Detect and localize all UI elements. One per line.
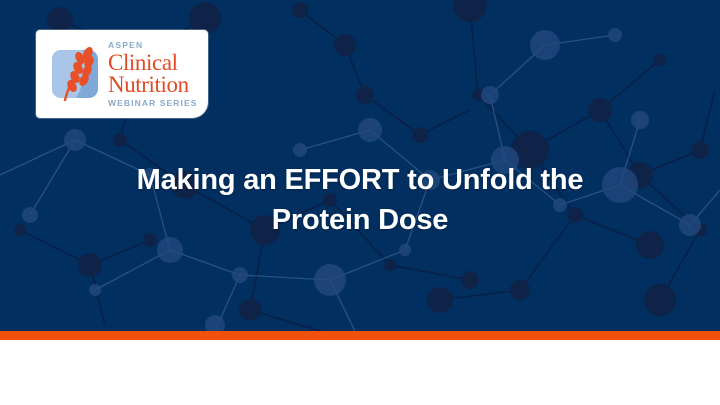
- webinar-series-logo: ASPEN Clinical Nutrition WEBINAR SERIES: [36, 30, 208, 118]
- slide-title-line1: Making an EFFORT to Unfold the: [137, 164, 584, 196]
- logo-org-label: ASPEN: [108, 41, 198, 50]
- wheat-logo-mark: [50, 43, 102, 105]
- orange-accent-bar: [0, 331, 720, 340]
- webinar-logo-text: ASPEN Clinical Nutrition WEBINAR SERIES: [108, 41, 198, 107]
- slide-title: Making an EFFORT to Unfold the Protein D…: [60, 160, 660, 240]
- slide-footer: aspen® AMERICAN SOCIETY FOR PARENTERAL A…: [0, 340, 720, 405]
- logo-name-line2: Nutrition: [108, 74, 198, 96]
- slide-title-line2: Protein Dose: [272, 204, 448, 236]
- logo-name-line1: Clinical: [108, 52, 198, 74]
- wheat-stalk-icon: [56, 45, 100, 103]
- logo-series-label: WEBINAR SERIES: [108, 99, 198, 108]
- presentation-slide: ASPEN Clinical Nutrition WEBINAR SERIES …: [0, 0, 720, 405]
